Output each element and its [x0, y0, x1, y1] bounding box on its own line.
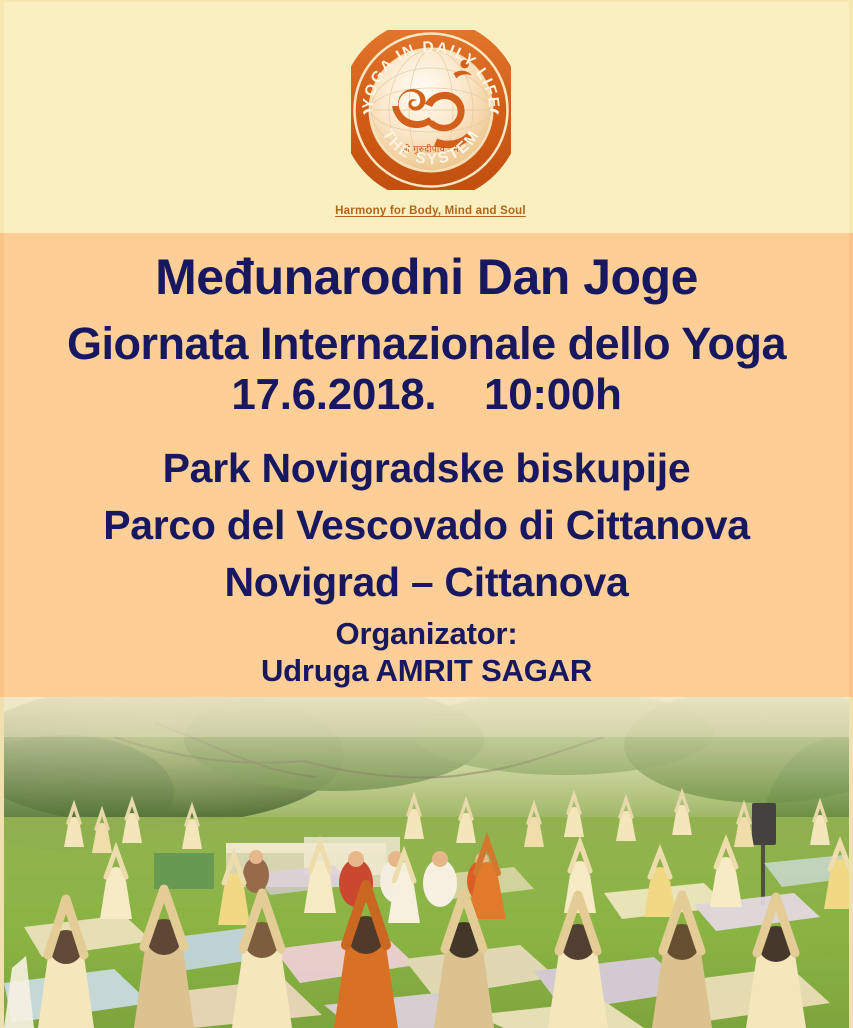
venue-italian: Parco del Vescovado di Cittanova	[0, 505, 853, 546]
venue-city: Novigrad – Cittanova	[0, 562, 853, 603]
yoga-in-daily-life-logo-icon: श्री गुरुदीपाय नमः YOGA IN DAILY LIFE TH…	[351, 30, 511, 190]
page-title-italian: Giornata Internazionale dello Yoga	[0, 321, 853, 366]
logo-tagline: Harmony for Body, Mind and Soul	[4, 205, 853, 217]
event-datetime: 17.6.2018. 10:00h	[0, 373, 853, 417]
venue-croatian: Park Novigradske biskupije	[0, 448, 853, 489]
organizer-name: Udruga AMRIT SAGAR	[0, 655, 853, 686]
poster-root: श्री गुरुदीपाय नमः YOGA IN DAILY LIFE TH…	[0, 0, 853, 1028]
page-title-croatian: Međunarodni Dan Joge	[0, 252, 853, 302]
group-yoga-photo-image	[4, 697, 853, 1028]
logo-band: श्री गुरुदीपाय नमः YOGA IN DAILY LIFE TH…	[0, 0, 853, 233]
logo-container: श्री गुरुदीपाय नमः YOGA IN DAILY LIFE TH…	[4, 30, 853, 195]
group-yoga-photo	[0, 697, 853, 1028]
organizer-label: Organizator:	[0, 618, 853, 649]
